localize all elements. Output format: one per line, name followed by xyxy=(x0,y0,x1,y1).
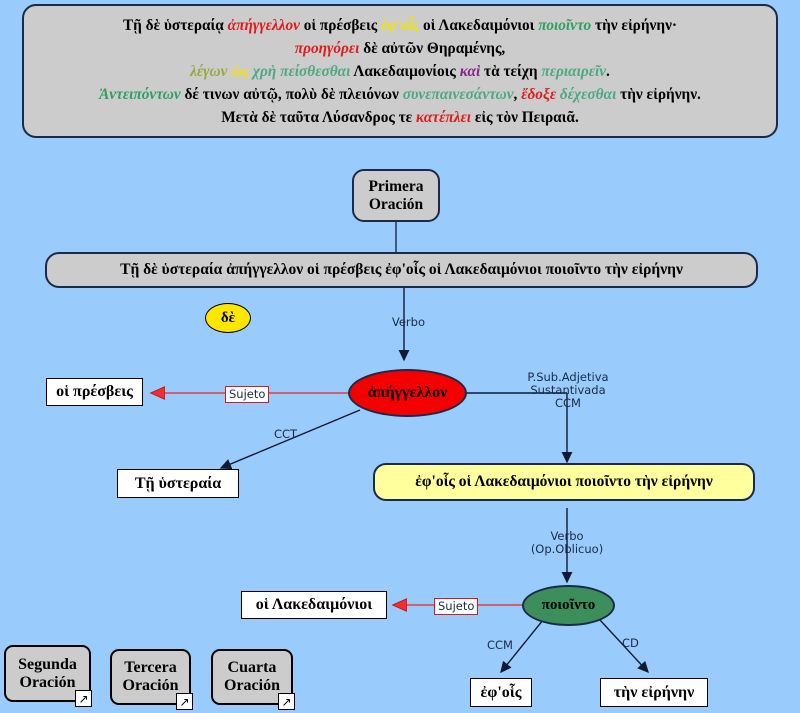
goto-arrow-icon[interactable]: ↗ xyxy=(176,693,193,710)
label-verbo-sub: Verbo (Op.Oblicuo) xyxy=(517,530,617,556)
goto-arrow-glyph: ↗ xyxy=(179,696,189,708)
greek-passage-panel: Τῇ δὲ ὑστεραίᾳ ἀπήγγελλον οἱ πρέσβεις ἐφ… xyxy=(22,4,778,138)
verbo-main-text: Verbo xyxy=(392,315,425,329)
passage-segment: ἐφ'οἷς xyxy=(381,17,419,34)
node-subject-main: οἱ πρέσβεις xyxy=(46,378,143,406)
main-verb-text: ἀπήγγελλον xyxy=(368,384,447,402)
passage-segment: . xyxy=(606,63,610,80)
passage-segment: τὰ τείχη xyxy=(480,63,541,80)
segunda-oracion-line1: Segunda xyxy=(18,656,77,674)
passage-segment: χρὴ πείσθεσθαι xyxy=(249,63,350,80)
particle-de-text: δὲ xyxy=(221,310,235,327)
passage-segment: ὡς xyxy=(231,63,249,80)
label-cct-main: CCT xyxy=(274,428,297,441)
label-cd-sub: CD xyxy=(622,637,639,650)
passage-segment: ἔδοξε xyxy=(521,86,556,103)
label-psub-ccm: P.Sub.Adjetiva Sustantivada CCM xyxy=(518,371,618,410)
passage-segment: εἰς τὸν Πειραιᾶ. xyxy=(471,109,579,126)
node-cd-sub: τὴν εἰρήνην xyxy=(600,678,708,707)
passage-segment: κατέπλει xyxy=(416,109,471,126)
node-main-verb: ἀπήγγελλον xyxy=(348,369,467,417)
cd-sub-text: τὴν εἰρήνην xyxy=(614,684,694,702)
label-verbo-main: Verbo xyxy=(385,316,425,329)
passage-segment: περιαιρεῖν xyxy=(541,63,606,80)
verbo-sub-line2: (Op.Oblicuo) xyxy=(517,543,617,556)
sujeto-main-text: Sujeto xyxy=(229,387,265,401)
passage-segment: Τῇ δὲ ὑστεραίᾳ xyxy=(123,17,228,34)
passage-segment: προηγόρει xyxy=(295,40,360,57)
node-secondary-verb: ποιοῖντο xyxy=(522,585,615,626)
passage-line: Ἀντειπόντων δέ τινων αὐτῷ, πολὺ δὲ πλειό… xyxy=(34,83,766,106)
tercera-oracion-line2: Oración xyxy=(123,677,179,695)
cuarta-oracion-line1: Cuarta xyxy=(228,659,277,677)
passage-segment: τὴν εἰρήνην. xyxy=(616,86,701,103)
ccm-sub-text: ἐφ'οἷς xyxy=(481,684,522,702)
passage-segment: συνεπαινεσάντων xyxy=(403,86,514,103)
cuarta-oracion-line2: Oración xyxy=(224,677,280,695)
diagram-canvas: Τῇ δὲ ὑστεραίᾳ ἀπήγγελλον οἱ πρέσβεις ἐφ… xyxy=(0,0,800,713)
cct-main-text: CCT xyxy=(274,427,297,441)
psub-line3: CCM xyxy=(518,397,618,410)
tercera-oracion-line1: Tercera xyxy=(124,659,176,677)
goto-arrow-icon[interactable]: ↗ xyxy=(75,690,92,707)
node-primera-oracion[interactable]: Primera Oración xyxy=(352,169,440,222)
passage-segment: οἱ πρέσβεις xyxy=(300,17,381,34)
node-full-sentence: Τῇ δὲ ὑστεραία ἀπήγγελλον οἱ πρέσβεις ἐφ… xyxy=(45,252,758,288)
passage-line: λέγων ὡς χρὴ πείσθεσθαι Λακεδαιμονίοις κ… xyxy=(34,60,766,83)
segunda-oracion-line2: Oración xyxy=(20,674,76,692)
cd-sub-text: CD xyxy=(622,636,639,650)
passage-segment: δέ τινων αὐτῷ, πολὺ δὲ πλειόνων xyxy=(181,86,403,103)
node-subject-sub: οἱ Λακεδαιμόνιοι xyxy=(241,591,387,619)
passage-segment: Ἀντειπόντων xyxy=(99,86,181,103)
full-sentence-text: Τῇ δὲ ὑστεραία ἀπήγγελλον οἱ πρέσβεις ἐφ… xyxy=(120,261,683,279)
label-sujeto-main: Sujeto xyxy=(225,386,269,403)
passage-segment: Μετὰ δὲ ταῦτα Λύσανδρος τε xyxy=(221,109,416,126)
passage-segment: καὶ xyxy=(460,63,481,80)
passage-segment: Λακεδαιμονίοις xyxy=(350,63,459,80)
passage-line: Μετὰ δὲ ταῦτα Λύσανδρος τε κατέπλει εἰς … xyxy=(34,106,766,129)
passage-segment: ἀπήγγελλον xyxy=(228,17,300,34)
passage-segment: δέχεσθαι xyxy=(556,86,616,103)
secondary-verb-text: ποιοῖντο xyxy=(542,597,596,614)
passage-segment: δὲ αὐτῶν Θηραμένης, xyxy=(359,40,505,57)
passage-segment: οἱ Λακεδαιμόνιοι xyxy=(419,17,538,34)
goto-arrow-icon[interactable]: ↗ xyxy=(278,693,295,710)
cct-main-text: Τῇ ὑστεραία xyxy=(135,475,221,493)
node-particle-de: δὲ xyxy=(205,303,251,333)
label-ccm-sub: CCM xyxy=(487,639,513,652)
passage-segment: λέγων xyxy=(190,63,231,80)
goto-arrow-glyph: ↗ xyxy=(78,693,88,705)
node-cct-main: Τῇ ὑστεραία xyxy=(117,469,239,498)
primera-oracion-line1: Primera xyxy=(368,178,423,196)
passage-segment: τὴν εἰρήνην· xyxy=(591,17,677,34)
sujeto-sub-text: Sujeto xyxy=(438,599,474,613)
label-sujeto-sub: Sujeto xyxy=(434,598,478,615)
goto-arrow-glyph: ↗ xyxy=(281,696,291,708)
subordinate-clause-text: ἐφ'οἷς οἱ Λακεδαιμόνιοι ποιοῖντο τὴν εἰρ… xyxy=(415,473,713,491)
passage-line: Τῇ δὲ ὑστεραίᾳ ἀπήγγελλον οἱ πρέσβεις ἐφ… xyxy=(34,14,766,37)
passage-line: προηγόρει δὲ αὐτῶν Θηραμένης, xyxy=(34,37,766,60)
primera-oracion-line2: Oración xyxy=(369,196,423,214)
node-ccm-sub: ἐφ'οἷς xyxy=(470,678,532,707)
node-subordinate-clause: ἐφ'οἷς οἱ Λακεδαιμόνιοι ποιοῖντο τὴν εἰρ… xyxy=(373,463,755,501)
ccm-sub-text: CCM xyxy=(487,638,513,652)
passage-segment: ποιοῖντο xyxy=(538,17,591,34)
subject-sub-text: οἱ Λακεδαιμόνιοι xyxy=(256,596,373,614)
subject-main-text: οἱ πρέσβεις xyxy=(56,383,133,401)
